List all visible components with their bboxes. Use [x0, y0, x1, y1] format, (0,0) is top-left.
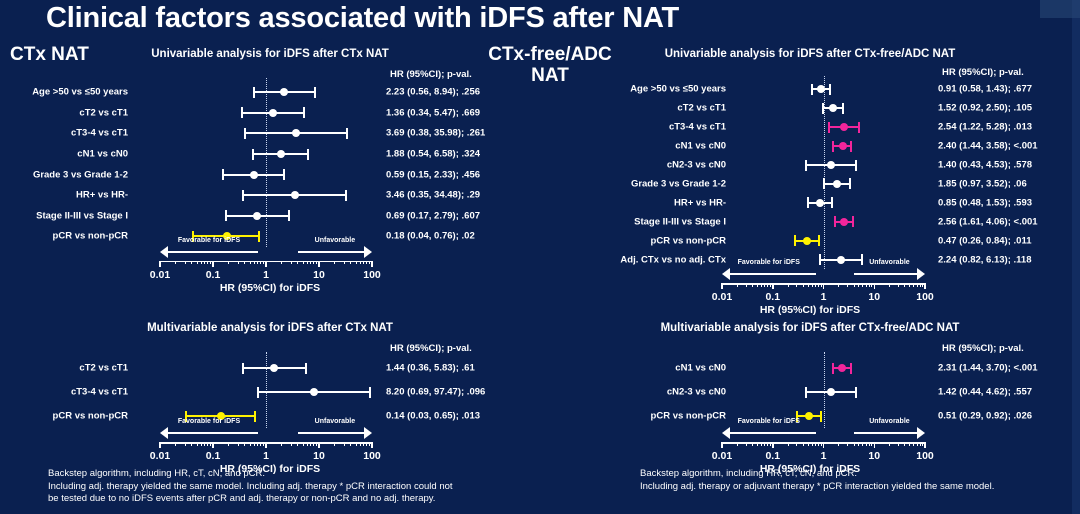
axis-tick-minor	[746, 442, 747, 446]
panel-adc-multivariable: Multivariable analysis for iDFS after CT…	[540, 322, 1080, 462]
axis-tick-major	[159, 261, 161, 267]
unfavorable-direction: Unfavorable	[298, 245, 372, 259]
favorable-label: Favorable for iDFS	[160, 237, 258, 244]
ci-point-estimate	[803, 237, 811, 245]
axis-tick-major	[924, 442, 926, 448]
axis-tick-minor	[175, 442, 176, 446]
favorable-direction: Favorable for iDFS	[722, 267, 816, 281]
axis-tick-minor	[815, 442, 816, 446]
axis-tick-label: 10	[868, 291, 880, 303]
favorable-label: Favorable for iDFS	[722, 418, 816, 425]
axis-tick-minor	[307, 261, 308, 265]
panel-title: Multivariable analysis for iDFS after CT…	[540, 322, 1080, 334]
ci-point-estimate	[829, 104, 837, 112]
ci-point-estimate	[292, 129, 300, 137]
ci-cap-high	[852, 216, 854, 227]
row-stat-value: 0.18 (0.04, 0.76); .02	[386, 231, 475, 242]
row-label: Stage II-III vs Stage I	[540, 216, 726, 227]
ci-point-estimate	[816, 199, 824, 207]
panel-title: Multivariable analysis for iDFS after CT…	[0, 322, 540, 334]
axis-tick-minor	[803, 442, 804, 446]
ci-cap-low	[823, 178, 825, 189]
axis-tick-minor	[366, 261, 367, 265]
favorable-direction: Favorable for iDFS	[160, 245, 258, 259]
ci-cap-low	[242, 363, 244, 374]
axis-tick-minor	[920, 283, 921, 287]
ci-cap-low	[819, 254, 821, 265]
axis-tick-minor	[904, 283, 905, 287]
axis-tick-minor	[201, 261, 202, 265]
axis-tick-minor	[197, 442, 198, 446]
axis-tick-minor	[350, 442, 351, 446]
ci-point-estimate	[840, 123, 848, 131]
axis-tick-minor	[858, 442, 859, 446]
axis-tick-minor	[838, 442, 839, 446]
forest-row: Grade 3 vs Grade 1-21.85 (0.97, 3.52); .…	[540, 175, 1080, 194]
axis-tick-major	[318, 442, 320, 448]
panel-ctx-multivariable: Multivariable analysis for iDFS after CT…	[0, 322, 540, 462]
slide-title: Clinical factors associated with iDFS af…	[46, 2, 1046, 35]
axis-tick-minor	[204, 442, 205, 446]
panel-title: Univariable analysis for iDFS after CTx …	[0, 48, 540, 60]
axis-tick-minor	[297, 261, 298, 265]
axis-tick-minor	[847, 283, 848, 287]
row-stat-value: 1.88 (0.54, 6.58); .324	[386, 149, 480, 160]
axis-tick-minor	[334, 261, 335, 265]
footnote-left: Backstep algorithm, including HR, cT, cN…	[48, 468, 558, 506]
top-right-band	[1040, 0, 1080, 18]
axis-tick-minor	[898, 283, 899, 287]
row-stat-value: 0.91 (0.58, 1.43); .677	[938, 84, 1032, 95]
axis-tick-minor	[356, 261, 357, 265]
axis-tick-minor	[866, 442, 867, 446]
row-stat-value: 2.31 (1.44, 3.70); <.001	[938, 363, 1038, 374]
axis-tick-major	[371, 261, 373, 267]
axis-tick-minor	[207, 442, 208, 446]
ci-point-estimate	[269, 109, 277, 117]
forest-row: cN1 vs cN02.31 (1.44, 3.70); <.001	[540, 356, 1080, 380]
axis-tick-minor	[260, 442, 261, 446]
ci-cap-low	[828, 122, 830, 133]
ci-cap-high	[283, 169, 285, 180]
axis-tick-minor	[922, 283, 923, 287]
row-label: Age >50 vs ≤50 years	[540, 84, 726, 95]
axis-tick-minor	[871, 442, 872, 446]
axis-tick-minor	[858, 283, 859, 287]
axis-tick-minor	[869, 283, 870, 287]
axis-tick-minor	[764, 283, 765, 287]
axis-tick-major	[874, 283, 876, 289]
axis-tick-minor	[210, 442, 211, 446]
axis-tick-label: 0.1	[206, 269, 221, 281]
ci-cap-high	[345, 190, 347, 201]
axis-tick-minor	[316, 442, 317, 446]
forest-row: pCR vs non-pCR0.47 (0.26, 0.84); .011	[540, 231, 1080, 250]
axis-tick-major	[924, 283, 926, 289]
row-stat-value: 1.52 (0.92, 2.50); .105	[938, 103, 1032, 114]
axis-tick-label: 0.01	[150, 450, 170, 462]
axis-tick-label: 10	[313, 450, 325, 462]
axis-tick-minor	[746, 283, 747, 287]
axis-tick-minor	[254, 261, 255, 265]
ci-cap-low	[805, 387, 807, 398]
ci-cap-low	[241, 107, 243, 118]
row-label: Stage II-III vs Stage I	[0, 210, 128, 221]
favorable-arrow-line	[729, 432, 816, 434]
row-stat-value: 2.54 (1.22, 5.28); .013	[938, 122, 1032, 133]
ci-cap-high	[303, 107, 305, 118]
axis-tick-minor	[197, 261, 198, 265]
axis-tick-minor	[737, 442, 738, 446]
favorable-arrow-line	[729, 273, 816, 275]
row-label: cN2-3 vs cN0	[540, 160, 726, 171]
row-stat-value: 1.85 (0.97, 3.52); .06	[938, 178, 1027, 189]
row-label: cT3-4 vs cT1	[0, 128, 128, 139]
axis-tick-minor	[360, 261, 361, 265]
axis-tick-label: 1	[821, 291, 827, 303]
axis-tick-minor	[238, 442, 239, 446]
unfavorable-label: Unfavorable	[298, 237, 372, 244]
forest-row: cT3-4 vs cT13.69 (0.38, 35.98); .261	[0, 123, 540, 144]
row-label: Age >50 vs ≤50 years	[0, 87, 128, 98]
ci-cap-high	[850, 363, 852, 374]
axis-tick-minor	[303, 261, 304, 265]
arrow-right-icon	[917, 268, 925, 280]
unfavorable-arrow-line	[298, 432, 365, 434]
axis-tick-minor	[767, 283, 768, 287]
ci-cap-high	[855, 387, 857, 398]
axis-tick-minor	[310, 261, 311, 265]
row-stat-value: 1.40 (0.43, 4.53); .578	[938, 160, 1032, 171]
ci-point-estimate	[837, 256, 845, 264]
axis-tick-minor	[862, 442, 863, 446]
axis-tick-major	[212, 261, 214, 267]
unfavorable-arrow-line	[298, 251, 365, 253]
forest-row: Stage II-III vs Stage I0.69 (0.17, 2.79)…	[0, 206, 540, 227]
axis-tick-minor	[307, 442, 308, 446]
axis-tick-minor	[313, 442, 314, 446]
row-label: pCR vs non-pCR	[0, 411, 128, 422]
ci-point-estimate	[833, 180, 841, 188]
row-stat-value: 0.69 (0.17, 2.79); .607	[386, 210, 480, 221]
row-stat-value: 0.51 (0.29, 0.92); .026	[938, 411, 1032, 422]
forest-row: cN2-3 vs cN01.42 (0.44, 4.62); .557	[540, 380, 1080, 404]
row-label: cN2-3 vs cN0	[540, 387, 726, 398]
axis-tick-label: 1	[263, 450, 269, 462]
ci-cap-high	[314, 87, 316, 98]
axis-tick-minor	[854, 283, 855, 287]
forest-row: Stage II-III vs Stage I2.56 (1.61, 4.06)…	[540, 212, 1080, 231]
axis-tick-major	[823, 283, 825, 289]
axis-tick-minor	[313, 261, 314, 265]
ci-cap-high	[831, 197, 833, 208]
ci-cap-low	[222, 169, 224, 180]
axis-tick-label: 0.1	[765, 291, 780, 303]
ci-cap-high	[858, 122, 860, 133]
favorable-direction: Favorable for iDFS	[160, 426, 258, 440]
axis-tick-label: 1	[263, 269, 269, 281]
forest-row: cT3-4 vs cT12.54 (1.22, 5.28); .013	[540, 118, 1080, 137]
axis-tick-minor	[871, 283, 872, 287]
axis-tick-minor	[770, 283, 771, 287]
axis-tick-major	[371, 442, 373, 448]
ci-cap-low	[832, 363, 834, 374]
row-stat-value: 3.46 (0.35, 34.48); .29	[386, 190, 480, 201]
row-label: cT3-4 vs cT1	[540, 122, 726, 133]
ci-point-estimate	[277, 150, 285, 158]
forest-row: pCR vs non-pCR0.14 (0.03, 0.65); .013	[0, 404, 540, 428]
axis-tick-minor	[369, 442, 370, 446]
ci-cap-low	[253, 87, 255, 98]
axis-tick-minor	[366, 442, 367, 446]
axis-tick-minor	[244, 261, 245, 265]
axis-tick-minor	[812, 442, 813, 446]
axis-tick-minor	[291, 442, 292, 446]
axis-tick-minor	[303, 442, 304, 446]
ci-point-estimate	[840, 218, 848, 226]
ci-cap-low	[257, 387, 259, 398]
stat-column-header: HR (95%CI); p-val.	[942, 67, 1024, 78]
axis-tick-label: 0.01	[712, 291, 732, 303]
axis-tick-minor	[764, 442, 765, 446]
axis-tick-minor	[889, 442, 890, 446]
ci-cap-low	[805, 160, 807, 171]
axis-tick-minor	[838, 283, 839, 287]
axis-tick-minor	[228, 261, 229, 265]
axis-tick-label: 10	[868, 450, 880, 462]
axis-tick-minor	[808, 442, 809, 446]
axis-tick-minor	[821, 283, 822, 287]
axis-tick-minor	[889, 283, 890, 287]
axis-tick-label: 0.1	[765, 450, 780, 462]
axis-tick-minor	[752, 442, 753, 446]
axis-tick-minor	[909, 283, 910, 287]
unfavorable-direction: Unfavorable	[854, 426, 925, 440]
axis-tick-minor	[257, 261, 258, 265]
axis-tick-major	[159, 442, 161, 448]
ci-cap-low	[811, 84, 813, 95]
ci-cap-high	[369, 387, 371, 398]
axis-tick-label: 100	[916, 291, 934, 303]
axis-tick-major	[318, 261, 320, 267]
ci-cap-high	[818, 235, 820, 246]
ci-cap-low	[225, 210, 227, 221]
axis-tick-minor	[757, 442, 758, 446]
axis-tick-minor	[201, 442, 202, 446]
axis-tick-minor	[185, 442, 186, 446]
axis-tick-minor	[263, 442, 264, 446]
axis-tick-label: 10	[313, 269, 325, 281]
row-label: HR+ vs HR-	[0, 190, 128, 201]
axis-tick-minor	[803, 283, 804, 287]
row-label: pCR vs non-pCR	[0, 231, 128, 242]
ci-cap-low	[242, 190, 244, 201]
slide-canvas: Clinical factors associated with iDFS af…	[0, 0, 1080, 514]
axis-tick-major	[212, 442, 214, 448]
row-stat-value: 0.85 (0.48, 1.53); .593	[938, 197, 1032, 208]
ci-cap-high	[850, 141, 852, 152]
ci-cap-high	[842, 103, 844, 114]
row-stat-value: 2.56 (1.61, 4.06); <.001	[938, 216, 1038, 227]
axis-tick-minor	[767, 442, 768, 446]
axis-tick-major	[265, 261, 267, 267]
ci-point-estimate	[270, 364, 278, 372]
axis-tick-minor	[228, 442, 229, 446]
axis-tick-minor	[210, 261, 211, 265]
forest-row: cT2 vs cT11.52 (0.92, 2.50); .105	[540, 99, 1080, 118]
axis-tick-minor	[360, 442, 361, 446]
row-label: cT2 vs cT1	[540, 103, 726, 114]
axis-tick-minor	[250, 261, 251, 265]
ci-cap-low	[832, 141, 834, 152]
ci-point-estimate	[827, 161, 835, 169]
ci-point-estimate	[827, 388, 835, 396]
panel-ctx-univariable: Univariable analysis for iDFS after CTx …	[0, 48, 540, 303]
axis-tick-minor	[917, 283, 918, 287]
stat-column-header: HR (95%CI); p-val.	[390, 343, 472, 354]
axis-tick-minor	[854, 442, 855, 446]
axis-tick-minor	[913, 283, 914, 287]
row-label: cN1 vs cN0	[540, 363, 726, 374]
axis-tick-minor	[922, 442, 923, 446]
row-label: cN1 vs cN0	[540, 141, 726, 152]
forest-row: cN1 vs cN02.40 (1.44, 3.58); <.001	[540, 137, 1080, 156]
axis-tick-minor	[297, 442, 298, 446]
forest-row: HR+ vs HR-3.46 (0.35, 34.48); .29	[0, 185, 540, 206]
ci-cap-high	[307, 149, 309, 160]
row-stat-value: 1.36 (0.34, 5.47); .669	[386, 107, 480, 118]
axis-tick-minor	[752, 283, 753, 287]
stat-column-header: HR (95%CI); p-val.	[390, 69, 472, 80]
panel-adc-univariable: Univariable analysis for iDFS after CTx-…	[540, 48, 1080, 303]
ci-cap-high	[820, 411, 822, 422]
forest-row: Age >50 vs ≤50 years0.91 (0.58, 1.43); .…	[540, 80, 1080, 99]
axis-tick-label: 100	[363, 269, 381, 281]
row-label: cT3-4 vs cT1	[0, 387, 128, 398]
row-stat-value: 3.69 (0.38, 35.98); .261	[386, 128, 485, 139]
axis-tick-minor	[866, 283, 867, 287]
axis-tick-label: 0.01	[150, 269, 170, 281]
axis-tick-label: 1	[821, 450, 827, 462]
axis-tick-minor	[788, 442, 789, 446]
axis-tick-minor	[281, 442, 282, 446]
axis-tick-label: 100	[916, 450, 934, 462]
ci-cap-low	[244, 128, 246, 139]
unfavorable-label: Unfavorable	[298, 418, 372, 425]
row-label: cN1 vs cN0	[0, 149, 128, 160]
forest-row: cN2-3 vs cN01.40 (0.43, 4.53); .578	[540, 156, 1080, 175]
axis-tick-minor	[909, 442, 910, 446]
favorable-label: Favorable for iDFS	[160, 418, 258, 425]
axis-tick-minor	[808, 283, 809, 287]
axis-tick-minor	[257, 442, 258, 446]
ci-cap-low	[794, 235, 796, 246]
axis-tick-label: 0.1	[206, 450, 221, 462]
axis-tick-minor	[796, 442, 797, 446]
axis-tick-minor	[821, 442, 822, 446]
favorable-arrow-line	[167, 432, 258, 434]
axis-tick-major	[874, 442, 876, 448]
axis-tick-minor	[334, 442, 335, 446]
axis-tick-minor	[757, 283, 758, 287]
axis-tick-minor	[770, 442, 771, 446]
ci-point-estimate	[250, 171, 258, 179]
axis-tick-label: 0.01	[712, 450, 732, 462]
unfavorable-arrow-line	[854, 432, 918, 434]
axis-tick-minor	[350, 261, 351, 265]
axis-tick-minor	[185, 261, 186, 265]
axis-tick-minor	[913, 442, 914, 446]
axis-tick-minor	[363, 442, 364, 446]
row-stat-value: 2.23 (0.56, 8.94); .256	[386, 87, 480, 98]
axis-tick-major	[721, 442, 723, 448]
row-label: Adj. CTx vs no adj. CTx	[540, 254, 726, 265]
axis-tick-minor	[191, 442, 192, 446]
axis-tick-minor	[363, 261, 364, 265]
ci-point-estimate	[839, 142, 847, 150]
axis-tick-minor	[281, 261, 282, 265]
ci-point-estimate	[253, 212, 261, 220]
ci-cap-high	[305, 363, 307, 374]
row-stat-value: 2.24 (0.82, 6.13); .118	[938, 254, 1031, 265]
ci-cap-low	[252, 149, 254, 160]
axis-tick-minor	[796, 283, 797, 287]
axis-tick-minor	[904, 442, 905, 446]
unfavorable-label: Unfavorable	[854, 259, 925, 266]
axis-tick-minor	[191, 261, 192, 265]
row-stat-value: 1.44 (0.36, 5.83); .61	[386, 363, 475, 374]
row-label: cT2 vs cT1	[0, 107, 128, 118]
ci-cap-high	[346, 128, 348, 139]
forest-row: Age >50 vs ≤50 years2.23 (0.56, 8.94); .…	[0, 82, 540, 103]
ci-cap-high	[855, 160, 857, 171]
ci-cap-low	[834, 216, 836, 227]
ci-cap-low	[807, 197, 809, 208]
stat-column-header: HR (95%CI); p-val.	[942, 343, 1024, 354]
row-label: cT2 vs cT1	[0, 363, 128, 374]
axis-tick-minor	[263, 261, 264, 265]
ci-point-estimate	[280, 88, 288, 96]
axis-tick-minor	[818, 442, 819, 446]
axis-tick-minor	[369, 261, 370, 265]
row-label: pCR vs non-pCR	[540, 235, 726, 246]
axis-tick-minor	[788, 283, 789, 287]
axis-tick-minor	[250, 442, 251, 446]
row-stat-value: 1.42 (0.44, 4.62); .557	[938, 387, 1032, 398]
axis-tick-minor	[917, 442, 918, 446]
row-stat-value: 0.14 (0.03, 0.65); .013	[386, 411, 480, 422]
row-stat-value: 8.20 (0.69, 97.47); .096	[386, 387, 485, 398]
favorable-direction: Favorable for iDFS	[722, 426, 816, 440]
row-stat-value: 2.40 (1.44, 3.58); <.001	[938, 141, 1038, 152]
forest-row: cT2 vs cT11.44 (0.36, 5.83); .61	[0, 356, 540, 380]
forest-row: cT2 vs cT11.36 (0.34, 5.47); .669	[0, 103, 540, 124]
axis-tick-minor	[356, 442, 357, 446]
unfavorable-direction: Unfavorable	[298, 426, 372, 440]
axis-tick-minor	[862, 283, 863, 287]
forest-row: HR+ vs HR-0.85 (0.48, 1.53); .593	[540, 193, 1080, 212]
axis-tick-minor	[291, 261, 292, 265]
row-stat-value: 0.59 (0.15, 2.33); .456	[386, 169, 480, 180]
axis-tick-minor	[761, 283, 762, 287]
favorable-arrow-line	[167, 251, 258, 253]
ci-cap-low	[822, 103, 824, 114]
axis-tick-minor	[737, 283, 738, 287]
forest-row: cT3-4 vs cT18.20 (0.69, 97.47); .096	[0, 380, 540, 404]
footnote-right: Backstep algorithm, including HR, cT, cN…	[640, 468, 1070, 493]
axis-tick-minor	[847, 442, 848, 446]
axis-tick-minor	[316, 261, 317, 265]
